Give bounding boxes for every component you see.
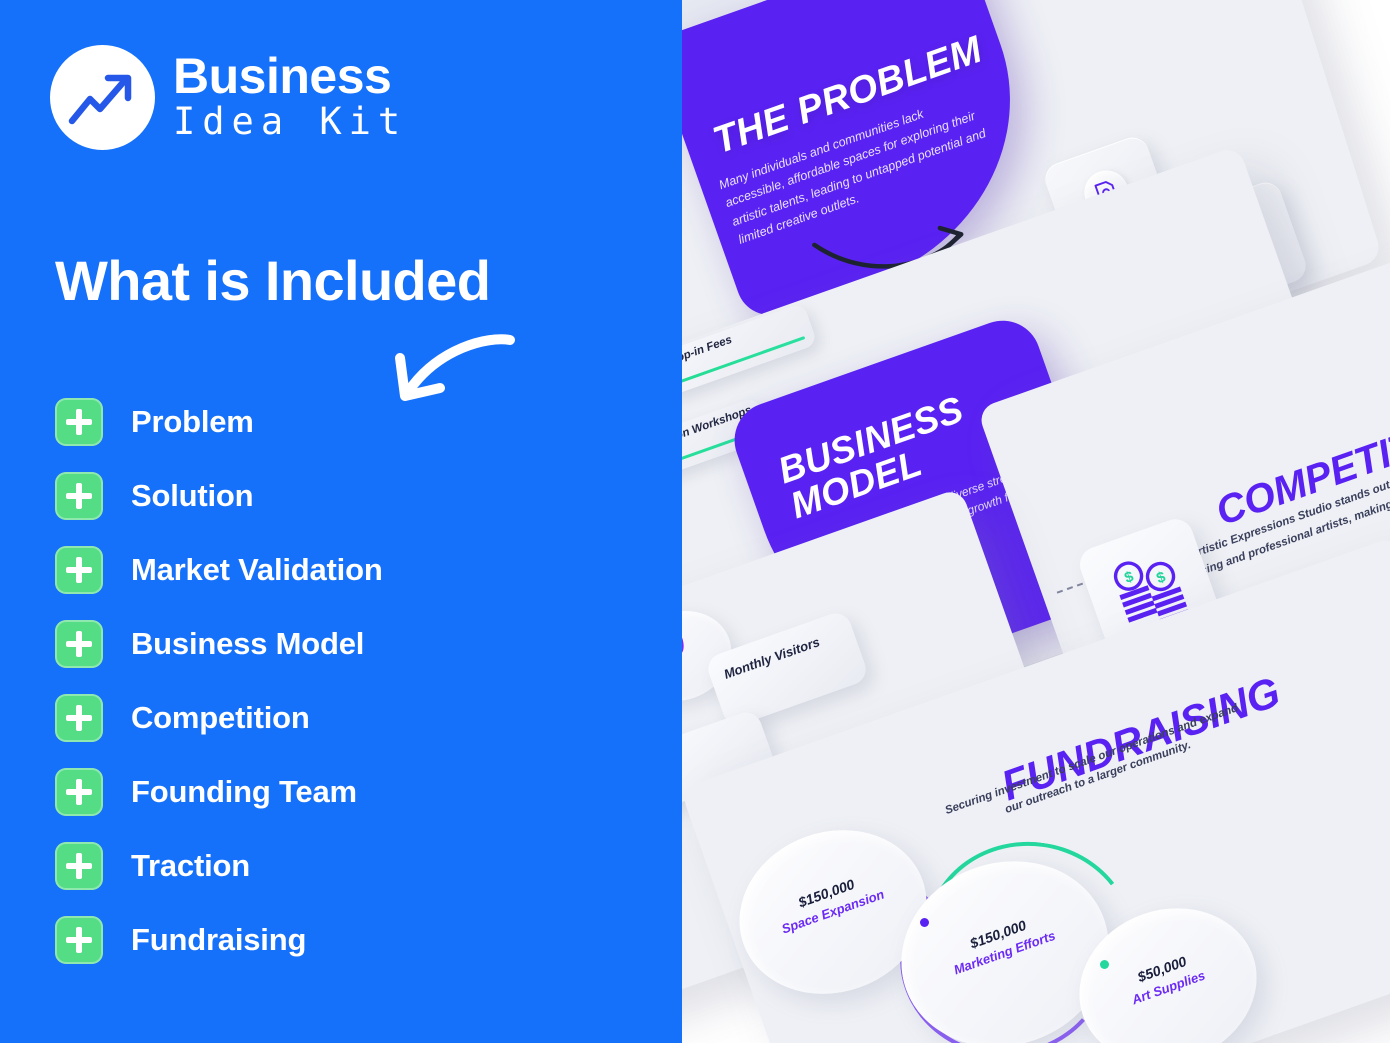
included-item-label: Problem xyxy=(131,404,254,440)
plus-icon xyxy=(55,916,103,964)
plus-icon xyxy=(55,694,103,742)
included-item-business-model[interactable]: Business Model xyxy=(55,607,615,681)
page-title: What is Included xyxy=(55,248,490,313)
poster-canvas: THE PROBLEM Many individuals and communi… xyxy=(0,0,1390,1043)
included-item-label: Competition xyxy=(131,700,310,736)
included-items-list: Problem Solution Market Validation Busin… xyxy=(55,385,615,977)
plus-icon xyxy=(55,472,103,520)
included-item-label: Fundraising xyxy=(131,922,306,958)
included-item-label: Market Validation xyxy=(131,552,383,588)
plus-icon xyxy=(55,620,103,668)
slide-showcase: THE PROBLEM Many individuals and communi… xyxy=(600,0,1390,1043)
included-item-label: Business Model xyxy=(131,626,364,662)
left-info-panel: Business Idea Kit What is Included Probl… xyxy=(0,0,682,1043)
included-item-founding-team[interactable]: Founding Team xyxy=(55,755,615,829)
included-item-market-validation[interactable]: Market Validation xyxy=(55,533,615,607)
brand-logo: Business Idea Kit xyxy=(50,45,407,150)
svg-text:$: $ xyxy=(1154,568,1168,587)
plus-icon xyxy=(55,546,103,594)
brand-wordmark: Business Idea Kit xyxy=(173,51,407,144)
included-item-solution[interactable]: Solution xyxy=(55,459,615,533)
included-item-label: Founding Team xyxy=(131,774,357,810)
included-item-traction[interactable]: Traction xyxy=(55,829,615,903)
brand-name-line1: Business xyxy=(173,51,407,101)
fundraising-node-dot xyxy=(1100,960,1109,969)
plus-icon xyxy=(55,768,103,816)
growth-chart-arrow-icon xyxy=(50,45,155,150)
fundraising-node-dot xyxy=(920,918,929,927)
brand-name-line2: Idea Kit xyxy=(173,101,407,144)
plus-icon xyxy=(55,398,103,446)
included-item-problem[interactable]: Problem xyxy=(55,385,615,459)
included-item-fundraising[interactable]: Fundraising xyxy=(55,903,615,977)
plus-icon xyxy=(55,842,103,890)
included-item-label: Solution xyxy=(131,478,253,514)
included-item-competition[interactable]: Competition xyxy=(55,681,615,755)
included-item-label: Traction xyxy=(131,848,250,884)
svg-text:$: $ xyxy=(1122,568,1136,587)
